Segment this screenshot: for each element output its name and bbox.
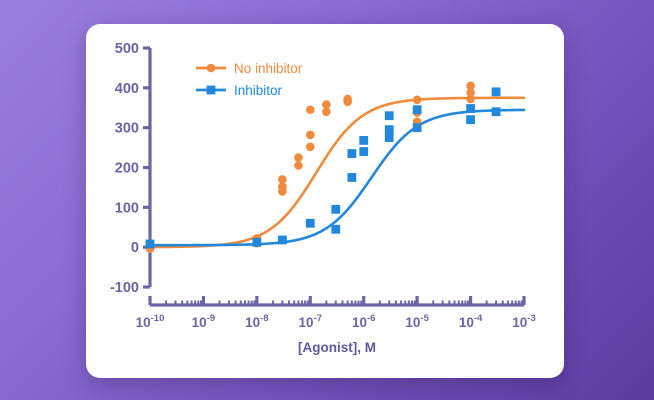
legend-label: No inhibitor [234,61,303,76]
data-point-inhibitor [492,87,501,96]
axis-labels-layer: 10-1010-910-810-710-610-510-410-3[Agonis… [136,313,536,355]
data-point-inhibitor [252,238,261,247]
data-point-inhibitor [306,219,315,228]
svg-text:10-3: 10-3 [512,313,535,330]
chart-card: 5004003002001000-100 No inhibitorInhibit… [86,24,564,378]
data-point-inhibitor [492,107,501,116]
x-axis-tick-label: 10-3 [512,313,535,330]
legend-item-inhibitor[interactable]: Inhibitor [196,83,283,98]
data-point-no-inhibitor [294,161,303,170]
x-axis-tick-label: 10-7 [299,313,322,330]
legend-circle-icon [207,64,216,73]
y-axis-tick-label: 400 [115,81,139,97]
data-point-inhibitor [466,104,475,113]
data-point-inhibitor [347,173,356,182]
y-axis-tick-label: 500 [115,41,139,57]
svg-text:10-6: 10-6 [352,313,375,330]
points-layer [146,82,501,254]
svg-text:10-7: 10-7 [299,313,322,330]
legend-label: Inhibitor [234,83,283,98]
legend-layer[interactable]: No inhibitorInhibitor [196,61,303,98]
data-point-no-inhibitor [343,97,352,106]
x-axis-tick-label: 10-8 [245,313,268,330]
svg-text:10-10: 10-10 [136,313,165,330]
page-background: 5004003002001000-100 No inhibitorInhibit… [0,0,654,400]
dose-response-chart[interactable]: 5004003002001000-100 No inhibitorInhibit… [86,24,564,378]
data-point-no-inhibitor [306,105,315,114]
x-axis-tick-label: 10-6 [352,313,375,330]
data-point-inhibitor [413,105,422,114]
svg-text:10-5: 10-5 [405,313,429,330]
data-point-inhibitor [146,240,155,249]
svg-text:10-9: 10-9 [192,313,215,330]
y-axis-tick-label: 200 [115,161,139,177]
x-axis-title: [Agonist], M [298,340,376,355]
data-point-inhibitor [331,225,340,234]
y-axis-tick-label: 100 [115,200,139,216]
y-axis-tick-label: 300 [115,121,139,137]
data-point-inhibitor [359,136,368,145]
data-point-inhibitor [278,236,287,245]
legend-item-no-inhibitor[interactable]: No inhibitor [196,61,303,76]
svg-text:10-4: 10-4 [459,313,483,330]
data-point-no-inhibitor [413,95,422,104]
x-axis-tick-label: 10-5 [405,313,429,330]
x-axis-tick-label: 10-4 [459,313,483,330]
data-point-inhibitor [385,125,394,134]
y-axis-tick-label: 0 [131,240,139,256]
data-point-inhibitor [385,133,394,142]
y-axis-tick-label: -100 [110,280,139,296]
x-axis-tick-label: 10-9 [192,313,215,330]
data-point-inhibitor [359,147,368,156]
data-point-no-inhibitor [278,187,287,196]
legend-square-icon [207,86,216,95]
x-axis-tick-label: 10-10 [136,313,165,330]
data-point-inhibitor [347,149,356,158]
data-point-inhibitor [385,111,394,120]
data-point-no-inhibitor [294,153,303,162]
data-point-no-inhibitor [306,131,315,140]
svg-text:10-8: 10-8 [245,313,268,330]
data-point-inhibitor [331,205,340,214]
data-point-no-inhibitor [322,107,331,116]
data-point-inhibitor [413,123,422,132]
data-point-inhibitor [466,115,475,124]
data-point-no-inhibitor [466,95,475,104]
data-point-no-inhibitor [306,142,315,151]
